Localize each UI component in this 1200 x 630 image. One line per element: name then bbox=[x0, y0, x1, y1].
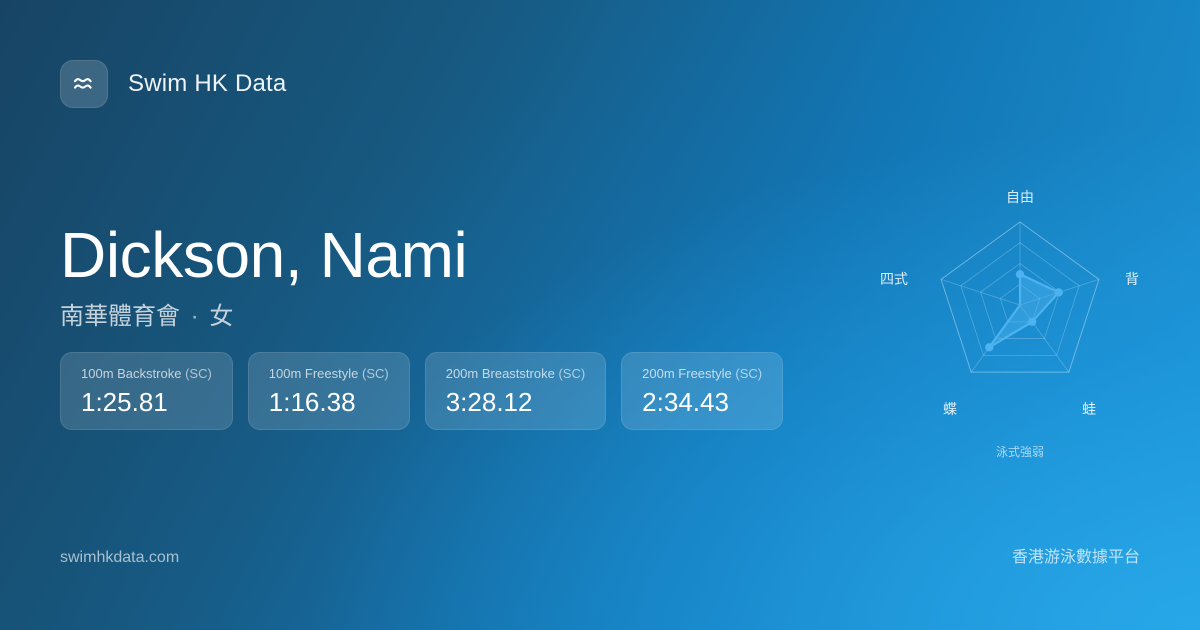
stat-event-name: 200m Freestyle bbox=[642, 366, 732, 381]
stat-card-label: 100m Backstroke (SC) bbox=[81, 366, 212, 382]
stat-card[interactable]: 100m Backstroke (SC) 1:25.81 bbox=[60, 352, 233, 430]
stroke-radar-chart bbox=[880, 170, 1170, 470]
club-name: 南華體育會 bbox=[60, 303, 180, 330]
radar-axis-label-freestyle: 自由 bbox=[1006, 188, 1034, 206]
stat-course-code: (SC) bbox=[558, 366, 585, 381]
stat-card-value: 1:16.38 bbox=[269, 386, 389, 418]
gender-label: 女 bbox=[209, 303, 233, 330]
share-card: Swim HK Data Dickson, Nami 南華體育會 · 女 100… bbox=[0, 0, 1200, 630]
page-title: Dickson, Nami bbox=[60, 218, 467, 292]
swimmer-meta: 南華體育會 · 女 bbox=[60, 302, 467, 332]
footer-tagline: 香港游泳數據平台 bbox=[1012, 548, 1140, 568]
radar-axis-label-individual-medley: 四式 bbox=[880, 270, 908, 288]
stat-card-value: 3:28.12 bbox=[446, 386, 585, 418]
radar-svg bbox=[880, 170, 1170, 470]
radar-axis-label-butterfly: 蝶 bbox=[943, 400, 957, 418]
hero-block: Dickson, Nami 南華體育會 · 女 bbox=[60, 218, 467, 332]
footer-site-url: swimhkdata.com bbox=[60, 548, 179, 568]
stat-card-label: 200m Freestyle (SC) bbox=[642, 366, 762, 382]
stat-card[interactable]: 100m Freestyle (SC) 1:16.38 bbox=[248, 352, 410, 430]
brand-header[interactable]: Swim HK Data bbox=[60, 60, 286, 108]
radar-caption: 泳式強弱 bbox=[996, 444, 1044, 460]
stat-card-label: 200m Breaststroke (SC) bbox=[446, 366, 585, 382]
app-logo bbox=[60, 60, 108, 108]
stat-card-value: 2:34.43 bbox=[642, 386, 762, 418]
stat-card-label: 100m Freestyle (SC) bbox=[269, 366, 389, 382]
stat-event-name: 100m Backstroke bbox=[81, 366, 181, 381]
best-times-list: 100m Backstroke (SC) 1:25.81 100m Freest… bbox=[60, 352, 783, 430]
stat-course-code: (SC) bbox=[185, 366, 212, 381]
brand-name: Swim HK Data bbox=[128, 70, 286, 98]
meta-separator: · bbox=[187, 303, 203, 330]
stat-event-name: 200m Breaststroke bbox=[446, 366, 555, 381]
stat-course-code: (SC) bbox=[735, 366, 762, 381]
stat-card[interactable]: 200m Freestyle (SC) 2:34.43 bbox=[621, 352, 783, 430]
stat-event-name: 100m Freestyle bbox=[269, 366, 359, 381]
wave-approx-icon bbox=[71, 71, 97, 97]
stat-card-value: 1:25.81 bbox=[81, 386, 212, 418]
radar-axis-label-backstroke: 背 bbox=[1125, 270, 1139, 288]
stat-course-code: (SC) bbox=[362, 366, 389, 381]
stat-card[interactable]: 200m Breaststroke (SC) 3:28.12 bbox=[425, 352, 606, 430]
radar-axis-label-breaststroke: 蛙 bbox=[1082, 400, 1096, 418]
